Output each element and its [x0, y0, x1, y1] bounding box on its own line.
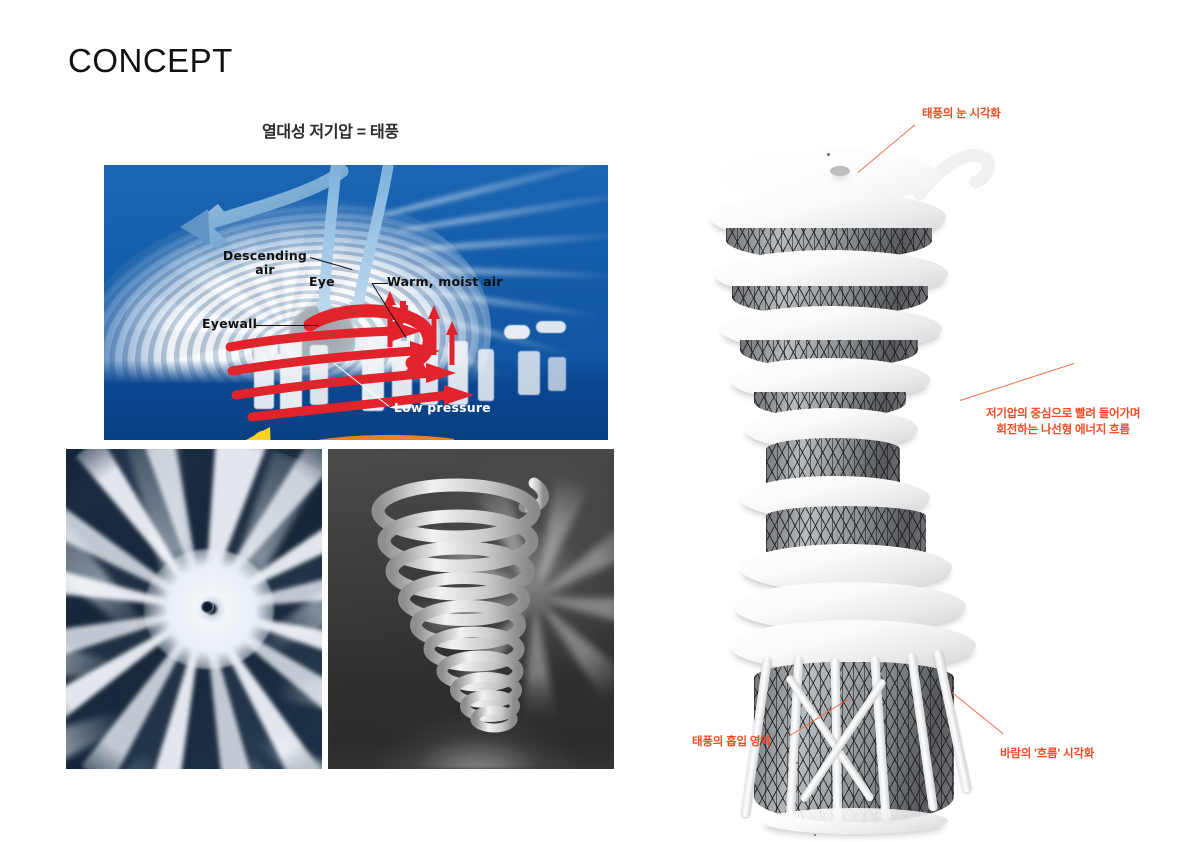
label-eyewall: Eyewall — [202, 317, 257, 331]
label-eye: Eye — [309, 275, 335, 289]
eye-aperture — [830, 166, 850, 176]
label-low-pressure: Low pressure — [394, 401, 491, 415]
deck-marker — [827, 153, 830, 156]
scene-marker — [796, 762, 798, 764]
leader-line-warm — [372, 283, 388, 284]
annotation-eye-visualization: 태풍의 눈 시각화 — [922, 107, 1001, 123]
leader-line-lowpressure — [390, 407, 402, 408]
base-footing — [762, 808, 948, 834]
diagram-subtitle: 열대성 저기압 = 태풍 — [262, 118, 399, 142]
scene-marker — [814, 834, 816, 836]
storm-eye — [201, 601, 214, 613]
annotation-spiral-energy-flow: 저기압의 중심으로 빨려 들어가며 회전하는 나선형 에너지 흐름 — [986, 407, 1140, 438]
photo-satellite-typhoon — [66, 449, 322, 769]
hurricane-diagram: Descending air Eye Warm, moist air Eyewa… — [104, 165, 608, 440]
label-descending-air: Descending air — [217, 249, 313, 277]
page-title: CONCEPT — [68, 44, 233, 77]
annotation-wind-flow: 바람의 '흐름' 시각화 — [1000, 747, 1094, 763]
leader-line-eyewall — [256, 325, 318, 326]
tower-render — [680, 120, 1170, 820]
inflow-arrows-red — [104, 165, 608, 440]
slide-canvas: CONCEPT 열대성 저기압 = 태풍 — [0, 0, 1192, 842]
annotation-intake-zone: 태풍의 흡입 영역 — [692, 735, 771, 751]
page-marker — [862, 800, 864, 802]
photo-tornado-ribbon — [328, 449, 614, 769]
ribbon-spiral — [328, 449, 614, 769]
label-warm-moist-air: Warm, moist air — [387, 275, 503, 289]
